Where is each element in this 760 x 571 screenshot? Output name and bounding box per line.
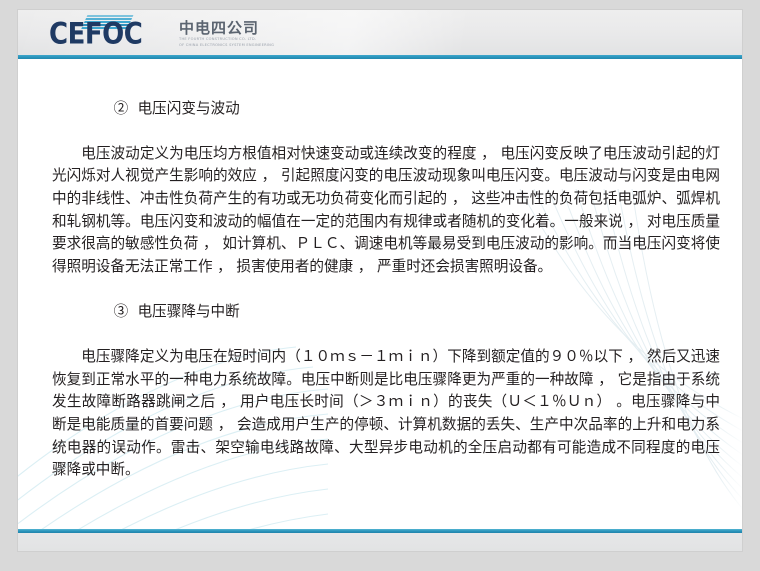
section-3-paragraph: 电压骤降定义为电压在短时间内（１０ｍｓ－１ｍｉｎ）下降到额定值的９０％以下 ， …: [52, 346, 720, 482]
section-2-marker: ②: [114, 100, 129, 117]
logo-wordmark: CEFOC: [49, 20, 142, 49]
section-heading-3: ③ 电压骤降与中断: [58, 278, 720, 346]
slide-content: ② 电压闪变与波动 电压波动定义为电压均方根值相对快速变动或连续改变的程度 ， …: [18, 59, 742, 529]
company-logo: CEFOC 中电四公司 THE FOURTH CONSTRUCTION CO. …: [49, 16, 274, 49]
logo-chinese-name: 中电四公司: [179, 21, 274, 37]
slide-header: CEFOC 中电四公司 THE FOURTH CONSTRUCTION CO. …: [18, 10, 742, 55]
presentation-slide: CEFOC 中电四公司 THE FOURTH CONSTRUCTION CO. …: [18, 10, 742, 551]
slide-footer: [18, 533, 742, 551]
section-heading-2: ② 电压闪变与波动: [58, 75, 720, 143]
logo-company-name-block: 中电四公司 THE FOURTH CONSTRUCTION CO. LTD. O…: [179, 21, 274, 49]
section-3-marker: ③: [114, 303, 129, 320]
slide-body: ② 电压闪变与波动 电压波动定义为电压均方根值相对快速变动或连续改变的程度 ， …: [18, 59, 742, 529]
section-2-paragraph: 电压波动定义为电压均方根值相对快速变动或连续改变的程度 ， 电压闪变反映了电压波…: [52, 143, 720, 279]
logo-english-line-2: OF CHINA ELECTRONICS SYSTEM ENGINEERING: [179, 43, 274, 48]
logo-mark: CEFOC: [49, 16, 167, 49]
screenshot-root: CEFOC 中电四公司 THE FOURTH CONSTRUCTION CO. …: [0, 0, 760, 571]
section-3-title: 电压骤降与中断: [138, 303, 240, 320]
section-2-title: 电压闪变与波动: [138, 100, 240, 117]
